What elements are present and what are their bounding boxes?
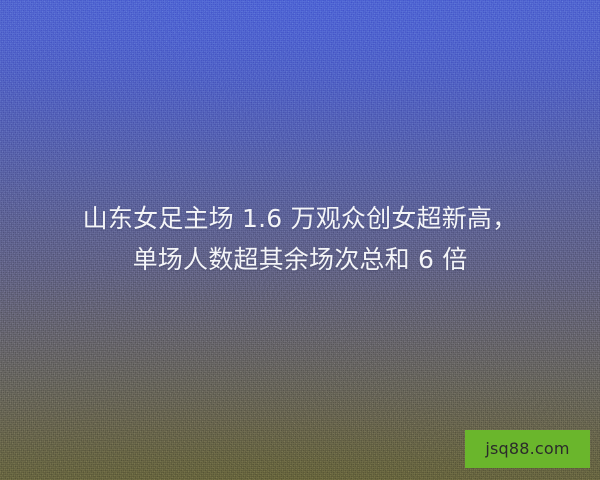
watermark-label: jsq88.com [485, 441, 569, 457]
headline-line-2: 单场人数超其余场次总和 6 倍 [0, 239, 600, 280]
headline-line-1: 山东女足主场 1.6 万观众创女超新高， [0, 198, 600, 239]
headline-image-canvas: 山东女足主场 1.6 万观众创女超新高， 单场人数超其余场次总和 6 倍 jsq… [0, 0, 600, 480]
watermark-badge: jsq88.com [465, 430, 590, 468]
headline-text-block: 山东女足主场 1.6 万观众创女超新高， 单场人数超其余场次总和 6 倍 [0, 198, 600, 280]
